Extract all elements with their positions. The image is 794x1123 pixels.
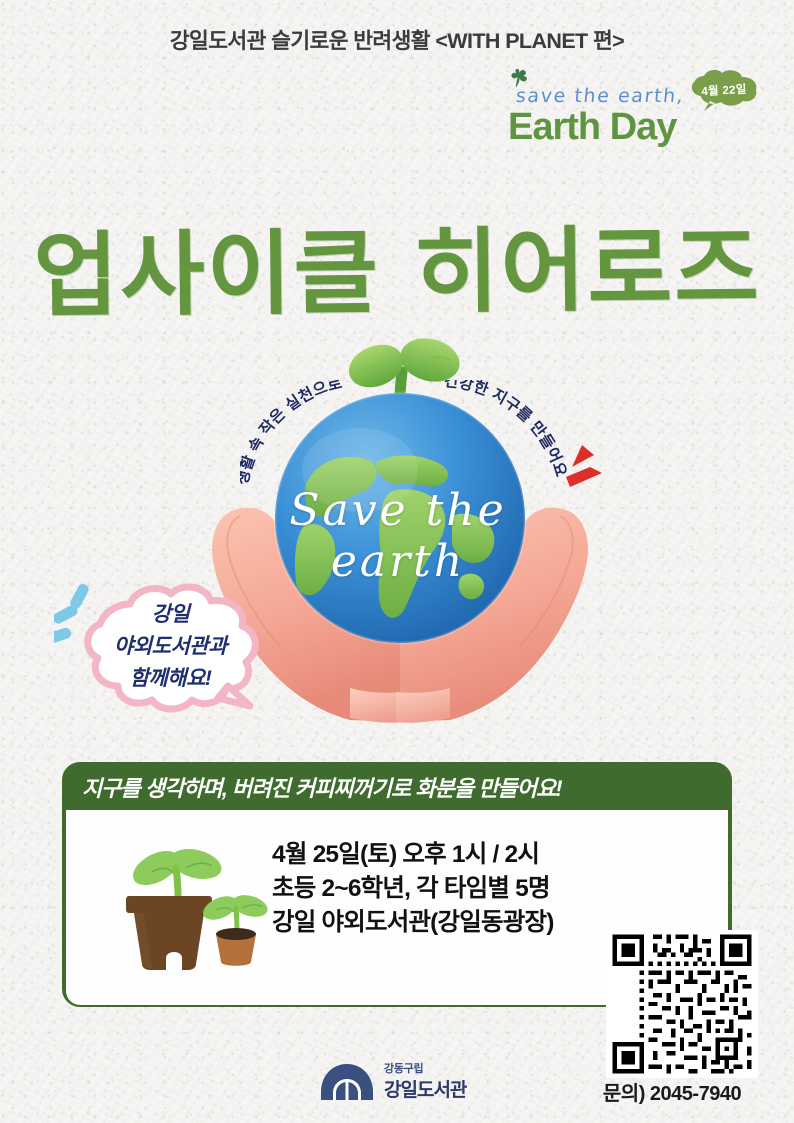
poster-canvas: 강일도서관 슬기로운 반려생활 <WITH PLANET 편> save the… (0, 0, 794, 1123)
library-logo: 강동구립 강일도서관 (318, 1058, 498, 1106)
arc-left-label: 생활 속 작은 실천으로 (240, 380, 344, 487)
detail-line-1: 4월 25일(토) 오후 1시 / 2시 (272, 838, 602, 872)
logo-main-label: 강일도서관 (384, 1075, 466, 1102)
logo-sub-label: 강동구립 (384, 1060, 423, 1076)
earth-day-date-bubble: 4월 22일 (688, 68, 760, 112)
arc-text-left: 생활 속 작은 실천으로 (240, 380, 410, 500)
contact-info: 문의) 2045-7940 (572, 1077, 772, 1106)
earth-day-date-label: 4월 22일 (687, 66, 761, 114)
globe-script-label: Save the earth (268, 485, 528, 587)
earth-day-block: save the earth, Earth Day 4월 22일 (498, 62, 758, 162)
qr-code[interactable] (606, 930, 758, 1078)
detail-line-2: 초등 2~6학년, 각 타임별 5명 (272, 872, 602, 906)
cloud-line-1: 강일 (152, 598, 190, 628)
info-box-headline: 지구를 생각하며, 버려진 커피찌꺼기로 화분을 만들어요! (64, 764, 730, 810)
earth-day-heading: Earth Day (508, 106, 676, 149)
red-accent-marks-icon (548, 443, 604, 497)
small-pot-icon (199, 891, 268, 965)
save-the-earth-script: save the earth, (515, 85, 686, 107)
library-logo-mark-icon (318, 1062, 376, 1102)
page-title: 강일도서관 슬기로운 반려생활 <WITH PLANET 편> (0, 24, 794, 55)
cloud-line-3: 함께해요! (130, 662, 212, 692)
cloud-bubble-text: 강일 야외도서관과 함께해요! (78, 582, 263, 714)
info-details: 4월 25일(토) 오후 1시 / 2시 초등 2~6학년, 각 타임별 5명 … (272, 838, 602, 939)
detail-line-3: 강일 야외도서관(강일동광장) (272, 906, 602, 940)
cloud-line-2: 야외도서관과 (114, 630, 227, 660)
main-title: 업사이클 히어로즈 (0, 194, 794, 335)
flower-pots-illustration (108, 840, 268, 970)
cloud-speech-bubble: 강일 야외도서관과 함께해요! (78, 582, 263, 714)
